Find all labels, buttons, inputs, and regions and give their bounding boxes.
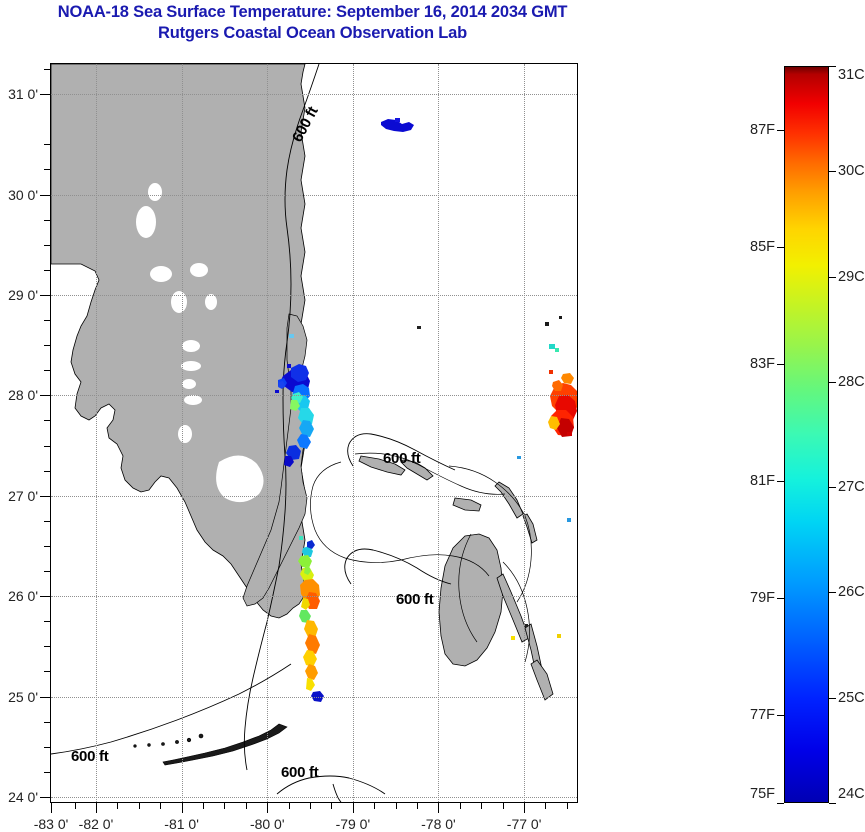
xtick-minor: [139, 802, 140, 809]
xaxis-label-78: -78 0': [421, 816, 456, 832]
colorbar-tick-27c: [829, 487, 836, 488]
yaxis-label-27: 27 0': [8, 488, 38, 504]
ytick-minor: [44, 320, 51, 321]
xtick-minor: [117, 802, 118, 809]
ytick-minor: [44, 169, 51, 170]
colorbar-label-31c: 31C: [838, 67, 865, 83]
colorbar-tick-30c: [829, 171, 836, 172]
colorbar-label-30c: 30C: [838, 163, 865, 179]
colorbar-label-79f: 79F: [750, 590, 775, 606]
yaxis-label-31: 31 0': [8, 86, 38, 102]
xtick-minor: [396, 802, 397, 809]
ytick-minor: [44, 245, 51, 246]
colorbar-label-81f: 81F: [750, 473, 775, 489]
contour-south-tail: [333, 784, 341, 802]
ytick-minor: [44, 144, 51, 145]
florida-peninsula: [51, 64, 305, 618]
ytick-minor: [44, 722, 51, 723]
yaxis-label-24: 24 0': [8, 789, 38, 805]
colorbar-label-85f: 85F: [750, 239, 775, 255]
xaxis-label-81: -81 0': [164, 816, 199, 832]
colorbar-tick-83f: [777, 364, 784, 365]
colorbar-label-28c: 28C: [838, 374, 865, 390]
ytick-major-30: [40, 195, 51, 196]
xaxis-label-82: -82 0': [79, 816, 114, 832]
xaxis-label-83: -83 0': [34, 816, 69, 832]
bahamas-islands: [359, 456, 553, 700]
colorbar-tick-87f: [777, 130, 784, 131]
contour-label-600ft-bahamas-north: 600 ft: [383, 450, 420, 467]
xtick-minor: [331, 802, 332, 809]
sst-patch-southeast-florida: [298, 536, 324, 702]
colorbar-gradient: [784, 66, 829, 803]
xtick-major-78: [438, 802, 439, 813]
ytick-major-26: [40, 596, 51, 597]
colorbar-tick-81f: [777, 481, 784, 482]
xtick-major-83: [51, 802, 52, 813]
ytick-minor: [44, 220, 51, 221]
cat-island: [523, 514, 537, 543]
xtick-minor: [246, 802, 247, 809]
ytick-major-31: [40, 94, 51, 95]
xtick-minor: [289, 802, 290, 809]
colorbar-label-24c: 24C: [838, 786, 865, 802]
ytick-minor: [44, 772, 51, 773]
colorbar-label-25c: 25C: [838, 690, 865, 706]
colorbar-tick-29c: [829, 277, 836, 278]
xtick-minor: [203, 802, 204, 809]
colorbar-tick-25c: [829, 698, 836, 699]
page-subtitle: Rutgers Coastal Ocean Observation Lab: [0, 23, 625, 44]
ytick-minor: [44, 671, 51, 672]
yaxis-label-30: 30 0': [8, 187, 38, 203]
ytick-minor: [44, 69, 51, 70]
contour-label-600ft-bahamas-south: 600 ft: [396, 591, 433, 608]
map-graphics: [51, 64, 577, 802]
colorbar-tick-26c: [829, 592, 836, 593]
sst-patch-north-offshore: [381, 118, 414, 132]
xaxis-label-80: -80 0': [250, 816, 285, 832]
ytick-minor: [44, 521, 51, 522]
yaxis-label-29: 29 0': [8, 287, 38, 303]
sst-patch-bahamas-speck: [545, 316, 562, 352]
ytick-minor: [44, 621, 51, 622]
sst-patch-offshore-warm-eddy: [548, 370, 577, 437]
xtick-minor: [417, 802, 418, 809]
colorbar-label-26c: 26C: [838, 584, 865, 600]
colorbar-tick-79f: [777, 598, 784, 599]
xtick-minor: [481, 802, 482, 809]
map-clip: [51, 64, 577, 802]
andros-island: [439, 534, 503, 666]
contour-label-600ft-keys: 600 ft: [71, 748, 108, 765]
xtick-minor: [545, 802, 546, 809]
colorbar-label-27c: 27C: [838, 479, 865, 495]
yaxis-label-28: 28 0': [8, 387, 38, 403]
colorbar-tick-28c: [829, 382, 836, 383]
xtick-major-80: [267, 802, 268, 813]
xtick-minor: [160, 802, 161, 809]
colorbar-label-75f: 75F: [750, 786, 775, 802]
ytick-minor: [44, 420, 51, 421]
ytick-minor: [44, 270, 51, 271]
xaxis-label-77: -77 0': [507, 816, 542, 832]
colorbar-tick-75f: [777, 803, 784, 804]
sst-map-plot-area: -83 0' -82 0' -81 0' -80 0' -79 0' -78 0…: [50, 63, 578, 803]
xtick-major-82: [96, 802, 97, 813]
ytick-minor: [44, 370, 51, 371]
page-title: NOAA-18 Sea Surface Temperature: Septemb…: [0, 2, 625, 23]
xtick-minor: [374, 802, 375, 809]
ytick-minor: [44, 345, 51, 346]
sst-data-patches: [275, 118, 577, 702]
land-masses: [51, 64, 309, 618]
ytick-minor: [44, 446, 51, 447]
ytick-major-25: [40, 697, 51, 698]
ytick-major-29: [40, 295, 51, 296]
bahama-bank-south: [531, 660, 553, 700]
contour-label-600ft-south: 600 ft: [281, 764, 318, 781]
chart-title-block: NOAA-18 Sea Surface Temperature: Septemb…: [0, 0, 625, 44]
xtick-major-79: [353, 802, 354, 813]
ytick-minor: [44, 546, 51, 547]
xtick-minor: [460, 802, 461, 809]
xtick-major-81: [182, 802, 183, 813]
xtick-minor: [224, 802, 225, 809]
xtick-major-77: [524, 802, 525, 813]
colorbar-label-83f: 83F: [750, 356, 775, 372]
xtick-minor: [310, 802, 311, 809]
great-exuma: [497, 574, 529, 642]
xtick-minor: [75, 802, 76, 809]
ytick-major-24: [40, 797, 51, 798]
new-providence: [453, 498, 481, 511]
ytick-major-27: [40, 496, 51, 497]
xtick-minor: [503, 802, 504, 809]
contour-bahamas-south: [345, 549, 451, 584]
yaxis-label-25: 25 0': [8, 689, 38, 705]
colorbar-label-77f: 77F: [750, 707, 775, 723]
colorbar-label-29c: 29C: [838, 269, 865, 285]
xaxis-label-79: -79 0': [336, 816, 371, 832]
ytick-minor: [44, 471, 51, 472]
yaxis-label-26: 26 0': [8, 588, 38, 604]
ytick-minor: [44, 747, 51, 748]
ytick-minor: [44, 571, 51, 572]
sst-colorbar: 31C 30C 29C 28C 27C 26C 25C 24C 87F 85F …: [784, 66, 829, 803]
ytick-minor: [44, 646, 51, 647]
florida-keys: [134, 724, 287, 765]
colorbar-label-87f: 87F: [750, 122, 775, 138]
xtick-minor: [567, 802, 568, 809]
colorbar-tick-24c: [829, 803, 836, 804]
colorbar-tick-77f: [777, 715, 784, 716]
colorbar-tick-85f: [777, 247, 784, 248]
eleuthera: [495, 482, 523, 518]
ytick-major-28: [40, 395, 51, 396]
colorbar-tick-31c: [829, 66, 836, 67]
